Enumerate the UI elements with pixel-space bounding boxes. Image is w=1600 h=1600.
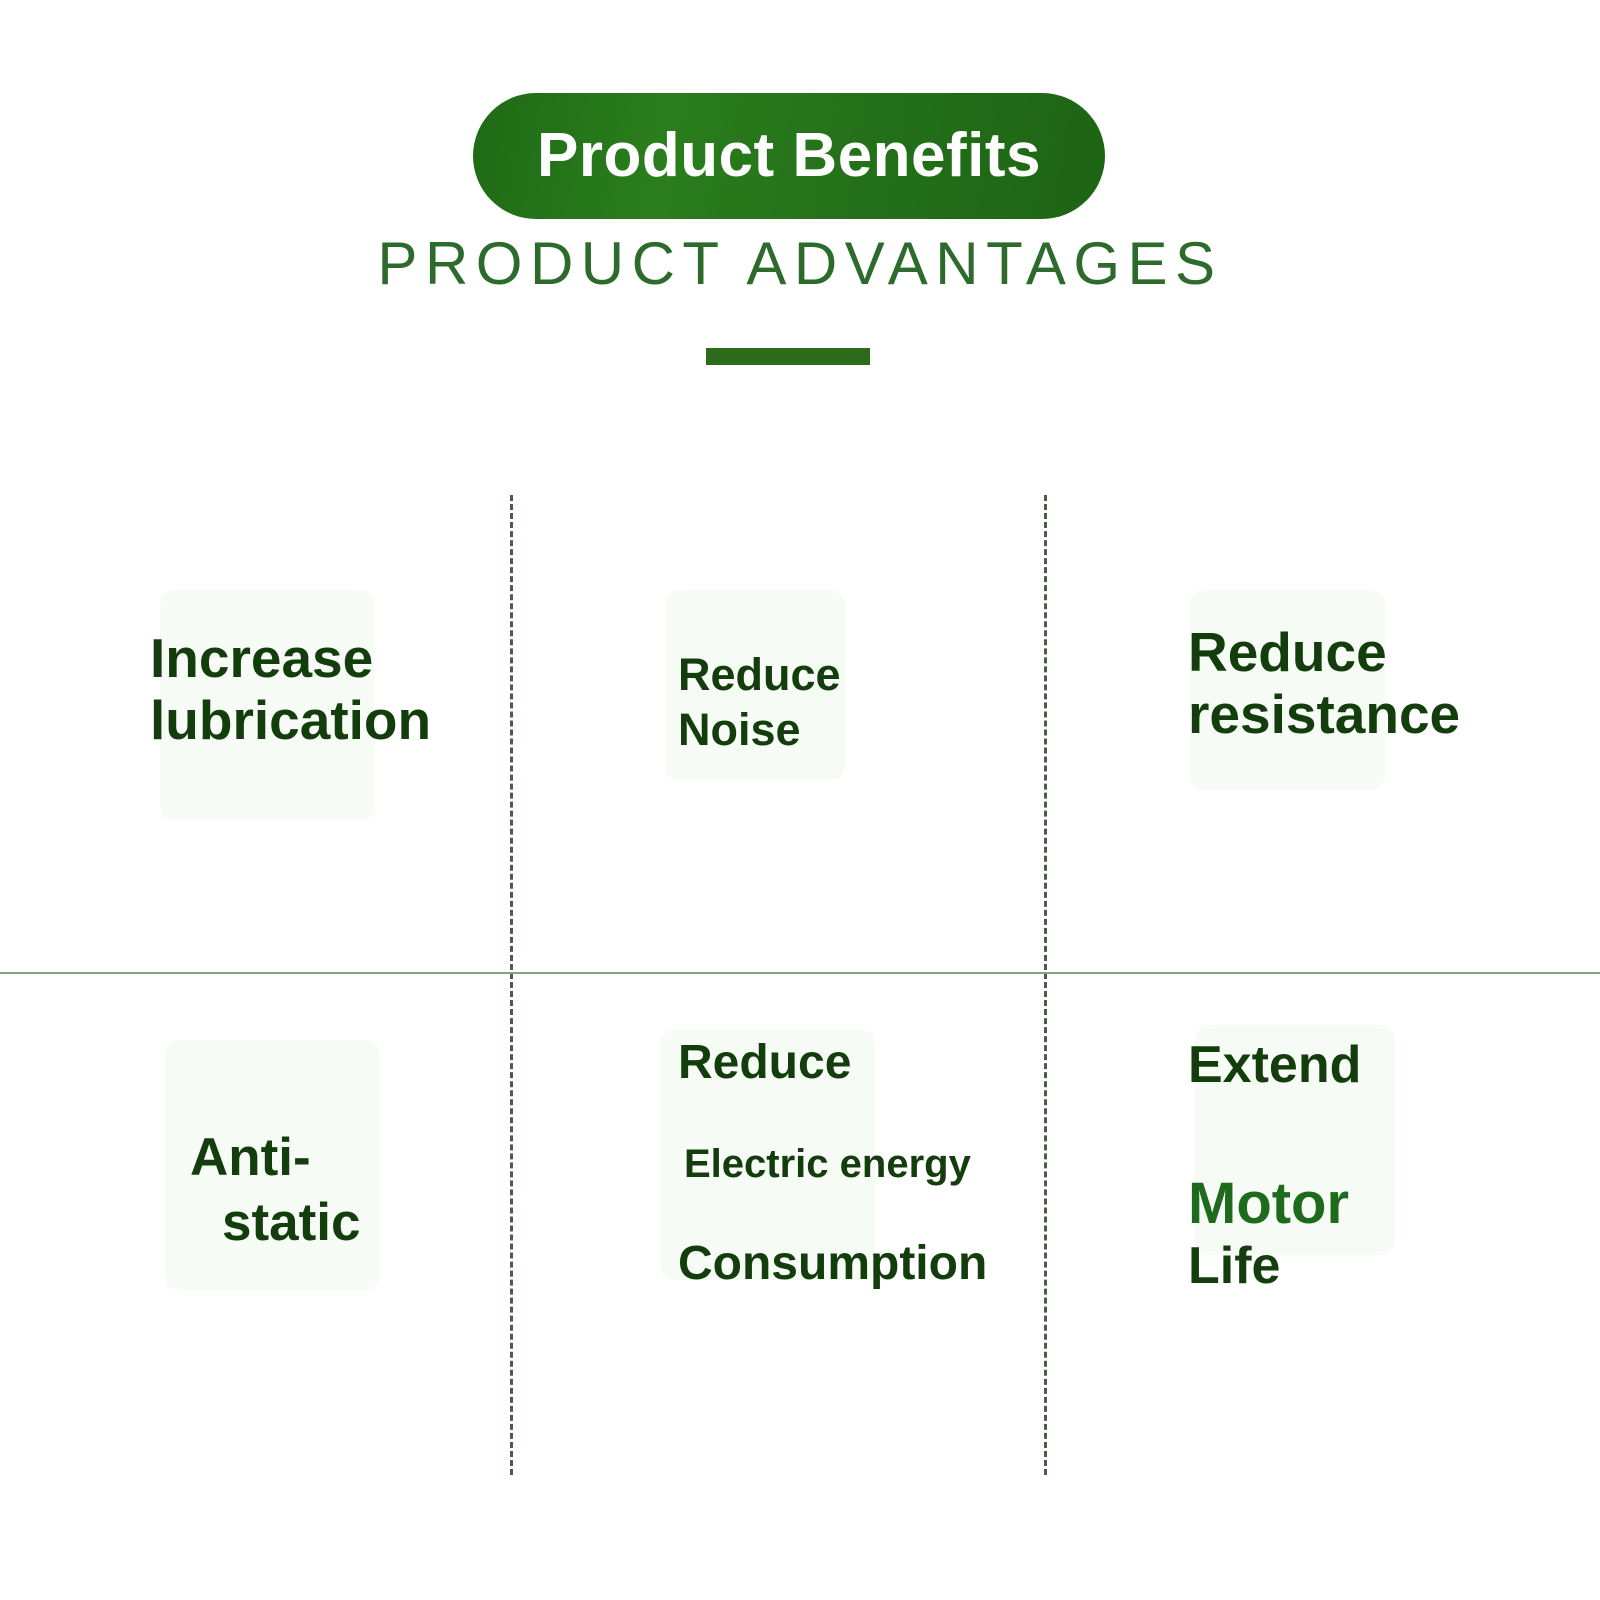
benefit-line: Extend (1188, 1036, 1588, 1094)
header-underline-rule (706, 348, 870, 365)
benefit-line: Electric energy (678, 1142, 1038, 1187)
benefit-line: Noise (678, 703, 1028, 758)
benefits-grid: Increase lubrication Reduce Noise Reduce… (0, 400, 1600, 1600)
horizontal-divider (0, 972, 1600, 974)
product-advantages-subtitle: PRODUCT ADVANTAGES (0, 232, 1600, 295)
vertical-divider-right (1044, 495, 1047, 1475)
product-benefits-badge: Product Benefits (473, 93, 1105, 219)
benefit-line: Consumption (678, 1237, 1038, 1291)
vertical-divider-left (510, 495, 513, 1475)
benefit-line: Reduce (678, 648, 1028, 703)
benefit-cell-anti-static: Anti- static (190, 1126, 510, 1255)
product-advantages-infographic: Product Benefits PRODUCT ADVANTAGES Incr… (0, 0, 1600, 1600)
benefit-cell-increase-lubrication: Increase lubrication (150, 628, 500, 751)
benefit-cell-reduce-resistance: Reduce resistance (1188, 622, 1588, 745)
benefit-line-accent: Motor (1188, 1172, 1588, 1237)
benefit-line: resistance (1188, 684, 1588, 746)
line-spacer (678, 1090, 1038, 1142)
benefit-line: static (190, 1191, 510, 1256)
benefit-cell-extend-motor-life: Extend Motor Life (1188, 1036, 1588, 1295)
benefit-cell-reduce-noise: Reduce Noise (678, 648, 1028, 758)
benefit-line: Reduce (678, 1036, 1038, 1090)
benefit-line: Life (1188, 1237, 1588, 1295)
benefit-cell-reduce-electric-energy-consumption: Reduce Electric energy Consumption (678, 1036, 1038, 1290)
benefit-line: Anti- (190, 1126, 510, 1191)
line-spacer (1188, 1094, 1588, 1172)
line-spacer (678, 1187, 1038, 1237)
header-section: Product Benefits PRODUCT ADVANTAGES (0, 0, 1600, 400)
benefit-line: lubrication (150, 690, 500, 752)
product-benefits-badge-label: Product Benefits (537, 125, 1041, 187)
benefit-line: Increase (150, 628, 500, 690)
benefit-line: Reduce (1188, 622, 1588, 684)
